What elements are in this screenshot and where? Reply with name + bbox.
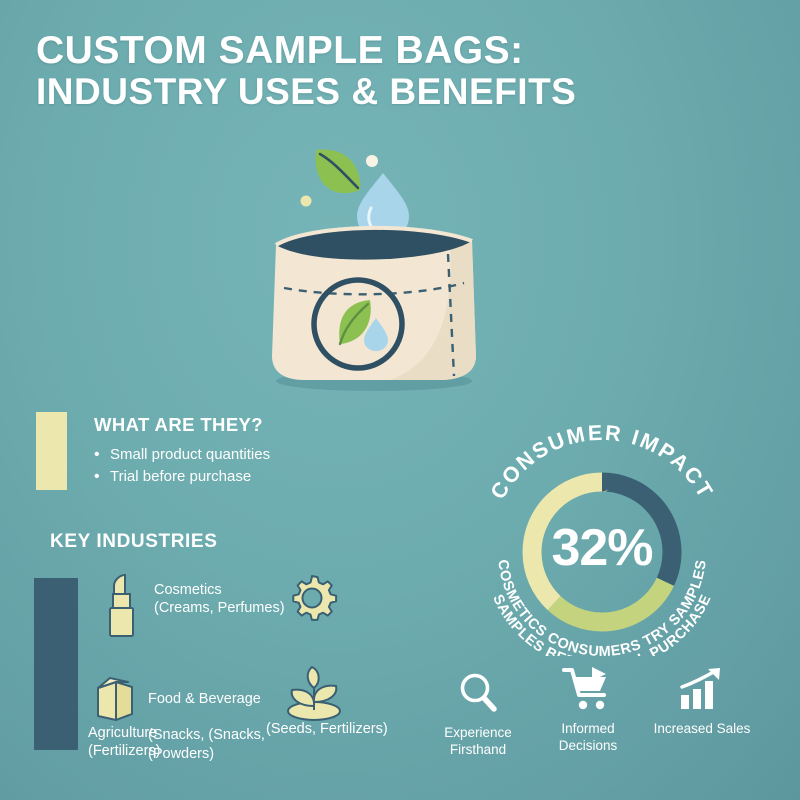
magnifier-icon <box>418 668 538 718</box>
infographic-canvas: CUSTOM SAMPLE BAGS: INDUSTRY USES & BENE… <box>0 0 800 800</box>
list-item: Trial before purchase <box>94 466 270 488</box>
industry-icon-gear-wrap <box>286 572 342 628</box>
key-industries-heading: KEY INDUSTRIES <box>50 531 217 553</box>
industry-name: Cosmetics <box>154 581 285 599</box>
benefit-label: Informed Decisions <box>528 721 648 755</box>
industry-name: Food & Beverage <box>148 690 265 708</box>
benefit-experience-firsthand: Experience Firsthand <box>418 668 538 759</box>
shopping-cart-icon <box>528 664 648 714</box>
accent-bar-yellow <box>36 412 67 490</box>
lipstick-icon <box>100 572 144 647</box>
industry-examples: (Seeds, Fertilizers) <box>266 720 388 738</box>
sparkle-dot-icon <box>366 155 378 167</box>
accent-bar-dark <box>34 578 78 750</box>
industry-label-seeds: (Seeds, Fertilizers) <box>266 720 388 738</box>
benefit-increased-sales: Increased Sales <box>642 664 762 738</box>
list-item: Small product quantities <box>94 444 270 466</box>
sparkle-dot-icon <box>301 196 312 207</box>
benefit-label: Experience Firsthand <box>418 725 538 759</box>
industry-label-cosmetics: Cosmetics (Creams, Perfumes) <box>154 581 285 617</box>
industry-label-food-beverage: Food & Beverage (Snacks, (Snacks, (Powde… <box>148 672 265 781</box>
industry-examples: (Snacks, (Snacks, (Powders) <box>148 726 265 762</box>
bar-chart-growth-icon <box>642 664 762 714</box>
title-line-2: INDUSTRY USES & BENEFITS <box>36 72 736 112</box>
gear-icon <box>286 572 338 629</box>
benefit-informed-decisions: Informed Decisions <box>528 664 648 755</box>
benefit-label: Increased Sales <box>642 721 762 738</box>
sample-bag-illustration <box>240 128 510 400</box>
what-are-they-heading: WHAT ARE THEY? <box>94 414 263 436</box>
what-are-they-list: Small product quantities Trial before pu… <box>94 444 270 488</box>
donut-center-value: 32% <box>468 518 736 578</box>
industry-examples: (Creams, Perfumes) <box>154 599 285 617</box>
leaf-icon <box>316 149 361 193</box>
page-title: CUSTOM SAMPLE BAGS: INDUSTRY USES & BENE… <box>36 30 736 112</box>
seedling-icon <box>278 662 350 729</box>
title-line-1: CUSTOM SAMPLE BAGS: <box>36 30 736 72</box>
consumer-impact-donut-chart: CONSUMER IMPACT COSMETICS CONSUMERS TRY … <box>468 424 736 656</box>
